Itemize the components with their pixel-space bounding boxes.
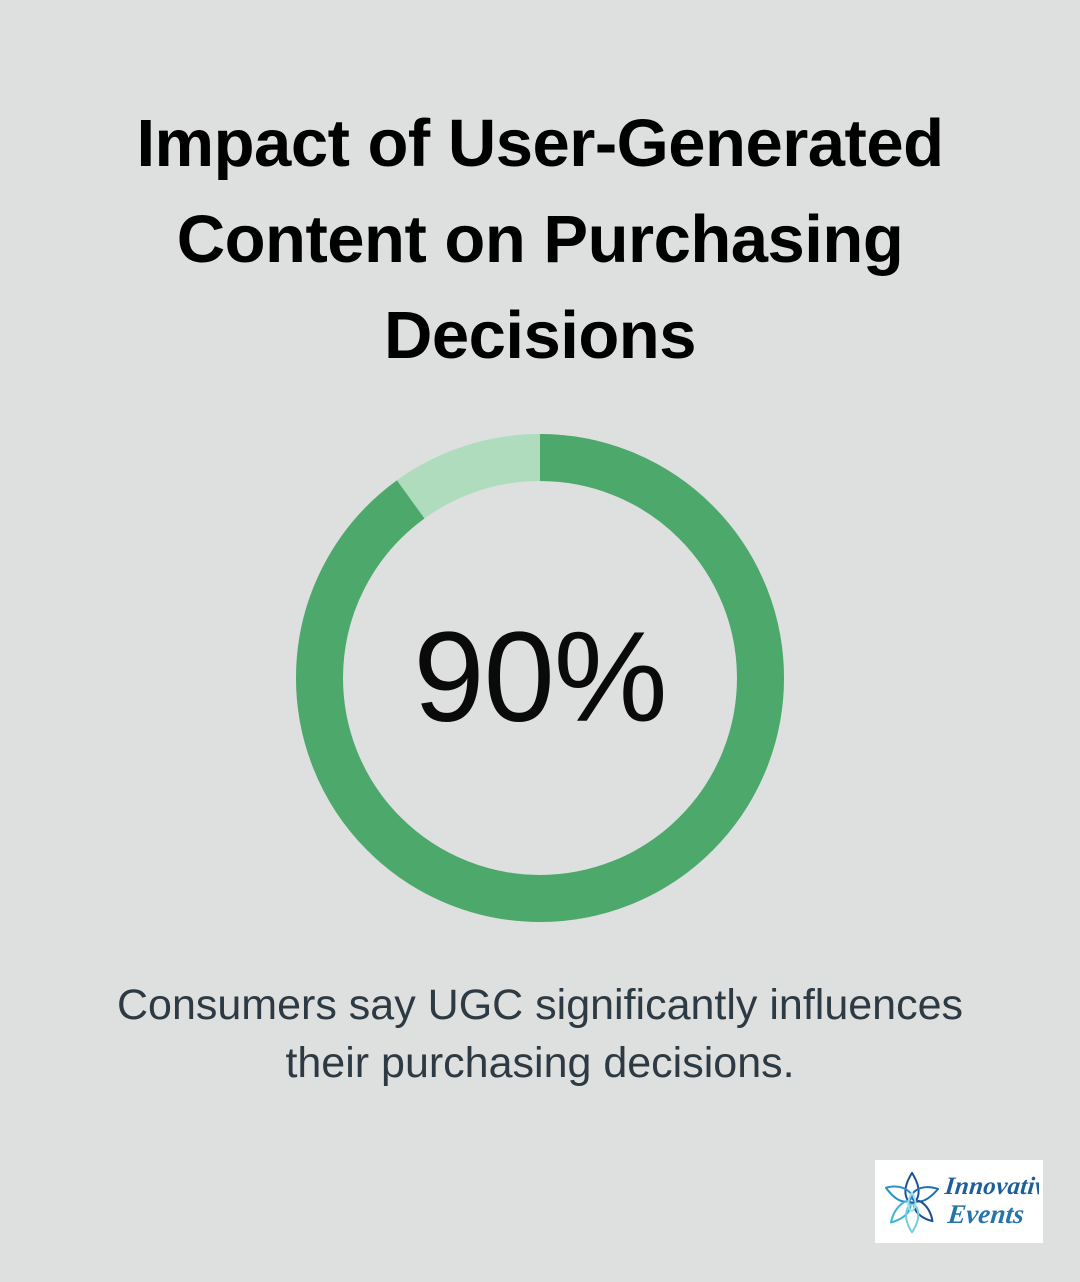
lotus-flower-icon [881, 1169, 943, 1235]
title-line-2: Content on Purchasing [60, 192, 1020, 288]
subtitle-line-1: Consumers say UGC significantly influenc… [60, 976, 1020, 1034]
donut-chart-svg [296, 434, 784, 922]
donut-segments [320, 458, 761, 899]
title-line-1: Impact of User-Generated [60, 96, 1020, 192]
donut-chart: 90% [296, 434, 784, 922]
brand-name-line-2: Events [947, 1201, 1026, 1229]
brand-name-line-1: Innovative [944, 1174, 1039, 1200]
donut-segment-value [320, 458, 761, 899]
subtitle-line-2: their purchasing decisions. [60, 1034, 1020, 1092]
title-line-3: Decisions [60, 288, 1020, 384]
subtitle: Consumers say UGC significantly influenc… [60, 976, 1020, 1092]
page-title: Impact of User-Generated Content on Purc… [60, 96, 1020, 384]
infographic-canvas: Impact of User-Generated Content on Purc… [0, 0, 1080, 1282]
brand-logo: Innovative Events [875, 1160, 1043, 1243]
brand-logo-text: Innovative Events [943, 1174, 1039, 1228]
